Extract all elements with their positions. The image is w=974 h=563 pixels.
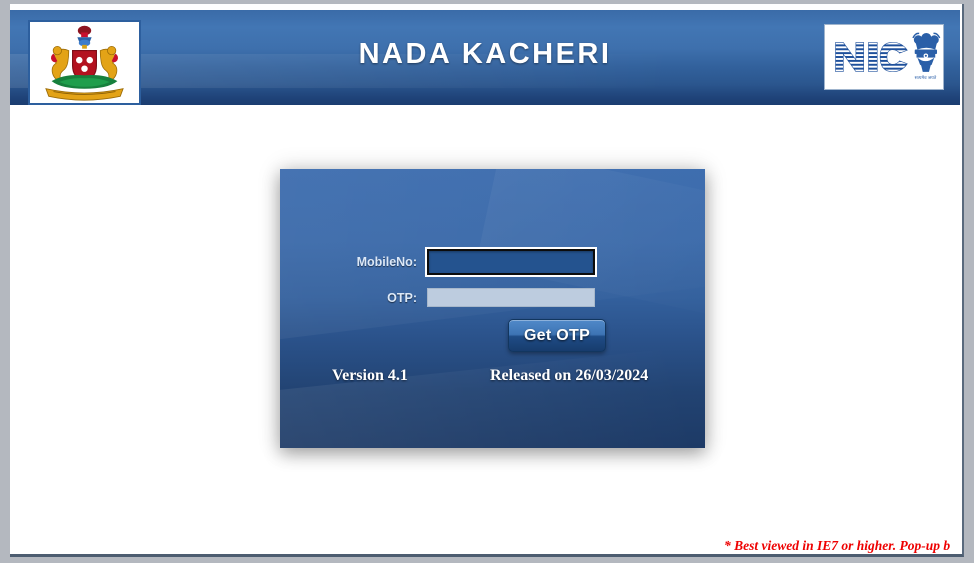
otp-label: OTP: xyxy=(342,291,417,305)
mobile-number-input[interactable] xyxy=(427,249,595,275)
release-date-label: Released on 26/03/2024 xyxy=(490,367,648,385)
version-info-row: Version 4.1 Released on 26/03/2024 xyxy=(280,367,705,389)
page-body: MobileNo: OTP: Get OTP Version 4.1 Relea… xyxy=(10,105,960,557)
mobile-number-row: MobileNo: xyxy=(342,249,595,275)
page-content-area: NADA KACHERI xyxy=(10,4,964,557)
page-title: NADA KACHERI xyxy=(10,38,960,71)
login-panel: MobileNo: OTP: Get OTP Version 4.1 Relea… xyxy=(280,169,705,448)
nic-emblem-motto: सत्यमेव जयते xyxy=(915,75,937,80)
otp-input[interactable] xyxy=(427,288,595,307)
browser-page-frame: NADA KACHERI xyxy=(0,0,974,563)
karnataka-state-emblem-icon xyxy=(28,20,141,105)
nic-logo-icon: सत्यमेव जयते xyxy=(824,24,944,90)
version-label: Version 4.1 xyxy=(332,367,408,385)
otp-login-form: MobileNo: OTP: Get OTP Version 4.1 Relea… xyxy=(280,169,705,448)
get-otp-button[interactable]: Get OTP xyxy=(508,319,606,352)
browser-compatibility-note: * Best viewed in IE7 or higher. Pop-up b xyxy=(724,538,964,554)
site-header-banner: NADA KACHERI xyxy=(10,10,960,105)
mobile-number-label: MobileNo: xyxy=(342,255,417,269)
otp-row: OTP: xyxy=(342,288,595,307)
